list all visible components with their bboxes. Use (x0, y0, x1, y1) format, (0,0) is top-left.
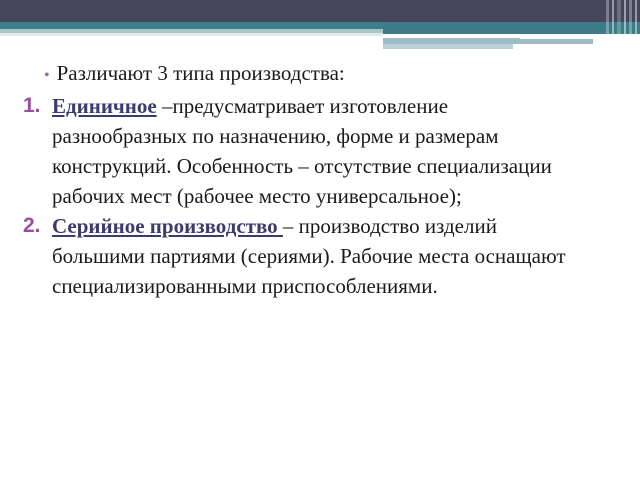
list-item: 2. Серийное производство – производство … (0, 211, 640, 301)
header-band-dark-navy (0, 0, 640, 22)
term-edinichnoe: Единичное (52, 94, 157, 118)
list-marker-1: 1. (0, 91, 52, 121)
header-accent-bar-teal-right (383, 22, 640, 34)
list-item-body-2: Серийное производство – производство изд… (52, 211, 640, 301)
header-stripe-3 (617, 0, 621, 56)
list-marker-2: 2. (0, 211, 52, 241)
slide-header-decoration (0, 0, 640, 56)
slide-body: • Различают 3 типа производства: 1. Един… (0, 58, 640, 301)
header-stripe-1 (606, 0, 609, 56)
header-stripe-2 (612, 0, 614, 56)
header-stripe-4 (624, 0, 626, 56)
list-item: 1. Единичное –предусматривает изготовлен… (0, 91, 640, 211)
intro-text: Различают 3 типа производства: (57, 58, 345, 88)
list-item-body-1: Единичное –предусматривает изготовление … (52, 91, 640, 211)
term-seriynoe-proizvodstvo: Серийное производство (52, 214, 283, 238)
intro-bullet-line: • Различают 3 типа производства: (0, 58, 640, 91)
production-types-list: 1. Единичное –предусматривает изготовлен… (0, 91, 640, 301)
header-stripe-6 (635, 0, 637, 56)
header-accent-bar-mid-lower (383, 44, 513, 49)
header-stripe-5 (629, 0, 632, 56)
header-vertical-stripes (604, 0, 640, 56)
bullet-dot-icon: • (44, 61, 50, 91)
